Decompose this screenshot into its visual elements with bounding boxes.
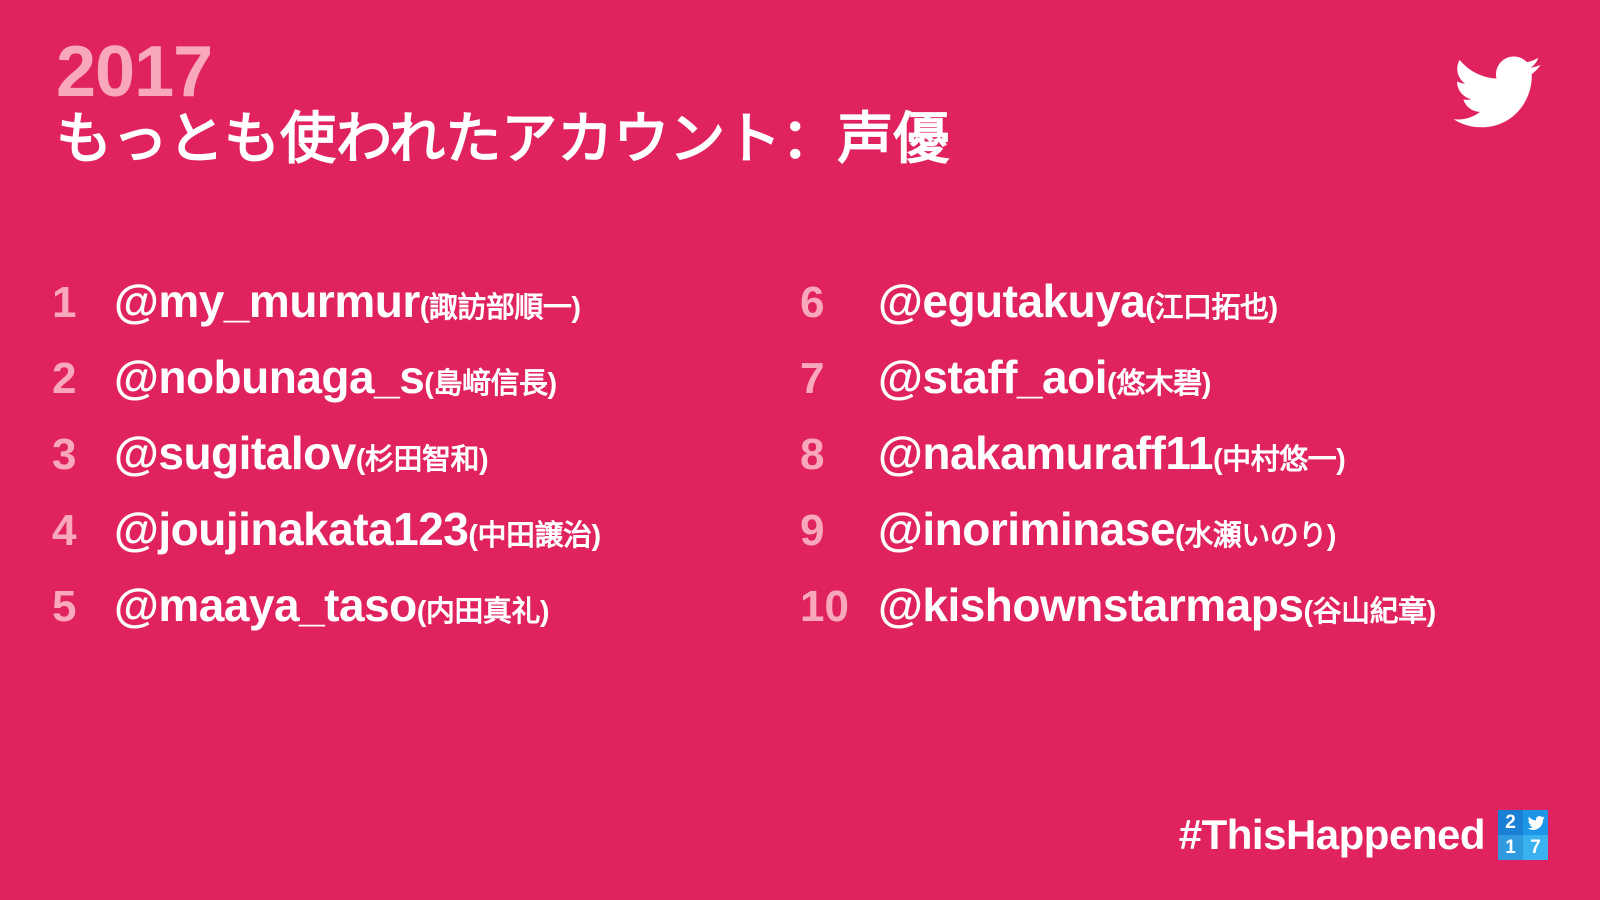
list-item[interactable]: 8 @nakamuraff11 (中村悠一) — [800, 430, 1590, 506]
account-handle[interactable]: @nakamuraff11 — [878, 430, 1213, 476]
list-item[interactable]: 9 @inoriminase (水瀬いのり) — [800, 506, 1590, 582]
account-handle[interactable]: @inoriminase — [878, 506, 1175, 552]
rank-number: 4 — [52, 509, 114, 553]
list-item[interactable]: 3 @sugitalov (杉田智和) — [52, 430, 812, 506]
badge-digit-1: 1 — [1498, 835, 1523, 860]
header: 2017 もっとも使われたアカウント：声優 — [56, 38, 949, 169]
account-realname: (中村悠一) — [1213, 446, 1345, 475]
list-item[interactable]: 6 @egutakuya (江口拓也) — [800, 278, 1590, 354]
rank-number: 2 — [52, 357, 114, 401]
account-realname: (谷山紀章) — [1303, 598, 1435, 627]
page-title: もっとも使われたアカウント：声優 — [56, 110, 949, 169]
rank-number: 3 — [52, 433, 114, 477]
account-handle[interactable]: @joujinakata123 — [114, 506, 468, 552]
account-realname: (杉田智和) — [356, 446, 488, 475]
account-realname: (江口拓也) — [1145, 294, 1277, 323]
list-item[interactable]: 1 @my_murmur (諏訪部順一) — [52, 278, 812, 354]
list-item[interactable]: 4 @joujinakata123 (中田譲治) — [52, 506, 812, 582]
account-realname: (内田真礼) — [417, 598, 549, 627]
account-realname: (水瀬いのり) — [1175, 522, 1336, 551]
account-handle[interactable]: @staff_aoi — [878, 354, 1107, 400]
rank-number: 5 — [52, 585, 114, 629]
account-handle[interactable]: @sugitalov — [114, 430, 356, 476]
rank-number: 6 — [800, 281, 878, 325]
twitter-bird-icon — [1440, 46, 1552, 138]
account-handle[interactable]: @maaya_taso — [114, 582, 417, 628]
account-realname: (悠木碧) — [1107, 370, 1211, 399]
year-label: 2017 — [56, 38, 949, 106]
account-realname: (島﨑信長) — [424, 370, 556, 399]
rank-number: 1 — [52, 281, 114, 325]
thishappened-badge-icon: 2 1 7 — [1498, 810, 1548, 860]
account-handle[interactable]: @my_murmur — [114, 278, 420, 324]
rank-number: 7 — [800, 357, 878, 401]
ranking-column-left: 1 @my_murmur (諏訪部順一) 2 @nobunaga_s (島﨑信長… — [52, 278, 812, 658]
badge-digit-7: 7 — [1523, 835, 1548, 860]
list-item[interactable]: 7 @staff_aoi (悠木碧) — [800, 354, 1590, 430]
hashtag-label: #ThisHappened — [1179, 814, 1485, 856]
slide-canvas: 2017 もっとも使われたアカウント：声優 1 @my_murmur (諏訪部順… — [0, 0, 1600, 900]
badge-twitter-bird-icon — [1523, 810, 1548, 835]
list-item[interactable]: 10 @kishownstarmaps (谷山紀章) — [800, 582, 1590, 658]
account-handle[interactable]: @kishownstarmaps — [878, 582, 1303, 628]
list-item[interactable]: 2 @nobunaga_s (島﨑信長) — [52, 354, 812, 430]
list-item[interactable]: 5 @maaya_taso (内田真礼) — [52, 582, 812, 658]
account-handle[interactable]: @nobunaga_s — [114, 354, 424, 400]
footer-lockup: #ThisHappened 2 1 7 — [1179, 810, 1548, 860]
rank-number: 10 — [800, 585, 878, 629]
account-realname: (中田譲治) — [468, 522, 600, 551]
rank-number: 8 — [800, 433, 878, 477]
account-handle[interactable]: @egutakuya — [878, 278, 1145, 324]
account-realname: (諏訪部順一) — [420, 294, 581, 323]
rank-number: 9 — [800, 509, 878, 553]
ranking-column-right: 6 @egutakuya (江口拓也) 7 @staff_aoi (悠木碧) 8… — [800, 278, 1590, 658]
badge-digit-2: 2 — [1498, 810, 1523, 835]
ranking-list: 1 @my_murmur (諏訪部順一) 2 @nobunaga_s (島﨑信長… — [0, 278, 1600, 678]
